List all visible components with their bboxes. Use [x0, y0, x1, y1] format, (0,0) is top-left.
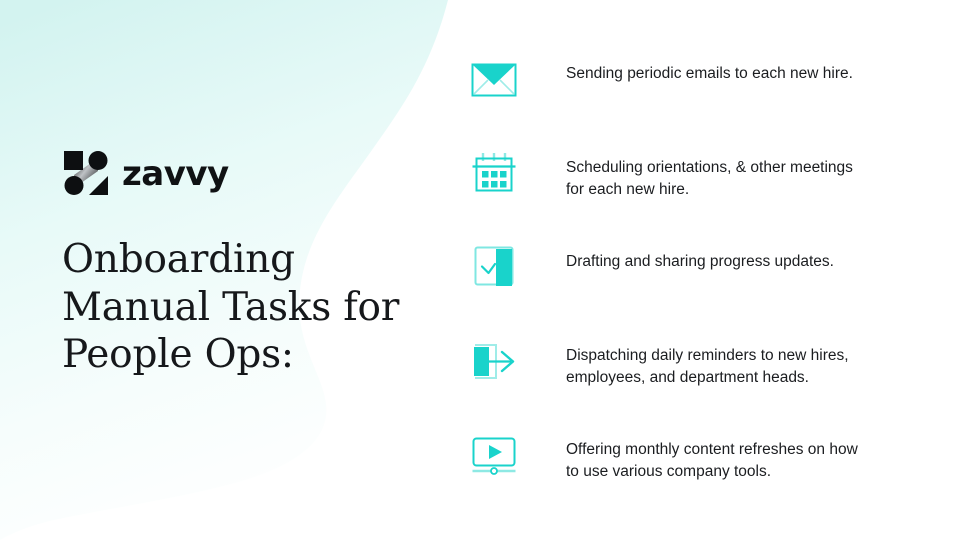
list-item-label: Dispatching daily reminders to new hires… [566, 336, 849, 390]
list-item: Offering monthly content refreshes on ho… [470, 430, 920, 492]
list-item-label: Drafting and sharing progress updates. [566, 242, 834, 273]
list-item-label: Scheduling orientations, & other meeting… [566, 148, 853, 202]
task-list: Sending periodic emails to each new hire… [470, 54, 920, 492]
envelope-icon [470, 54, 518, 102]
video-player-icon [470, 430, 518, 478]
list-item: Drafting and sharing progress updates. [470, 242, 920, 304]
checklist-square-icon [470, 242, 518, 290]
list-item: Sending periodic emails to each new hire… [470, 54, 920, 116]
calendar-icon [470, 148, 518, 196]
list-item: Dispatching daily reminders to new hires… [470, 336, 920, 398]
brand-logo: zavvy [62, 148, 412, 198]
slide-canvas: zavvy Onboarding Manual Tasks for People… [0, 0, 960, 540]
zavvy-z-logo-icon [62, 149, 110, 197]
page-title: Onboarding Manual Tasks for People Ops: [62, 236, 412, 379]
list-item: Scheduling orientations, & other meeting… [470, 148, 920, 210]
brand-wordmark: zavvy [122, 157, 229, 191]
dispatch-arrow-icon [470, 336, 518, 384]
list-item-label: Sending periodic emails to each new hire… [566, 54, 853, 85]
list-item-label: Offering monthly content refreshes on ho… [566, 430, 858, 484]
left-content-column: zavvy Onboarding Manual Tasks for People… [62, 148, 412, 379]
